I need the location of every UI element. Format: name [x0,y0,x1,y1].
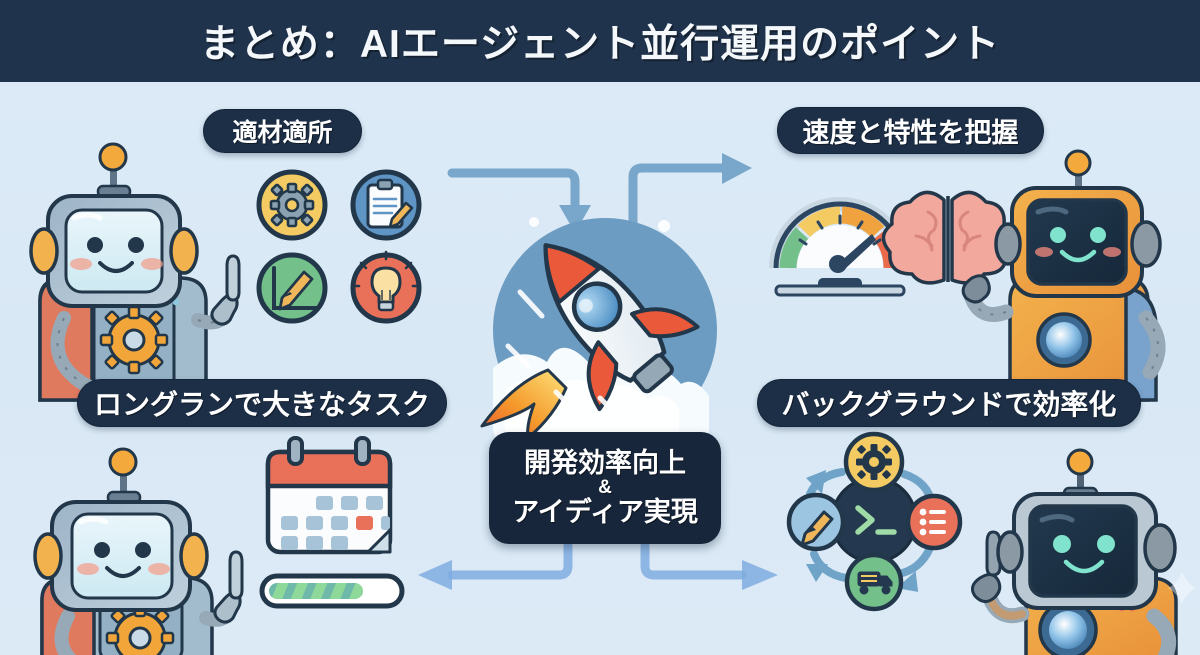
background-cycle-diagram [789,434,960,609]
header-bar: まとめ：AIエージェント並行運用のポイント [0,0,1200,82]
label-bottom-left[interactable]: ロングランで大きなタスク [77,379,447,427]
label-bottom-right-text: バックグラウンドで効率化 [782,383,1117,423]
label-top-left-text: 適材適所 [232,113,332,149]
calendar-icon [268,438,390,552]
arrow-right [645,546,742,575]
robot-bottom-right [972,450,1196,655]
label-top-left[interactable]: 適材適所 [203,109,362,153]
arrow-up-right-head [722,153,752,184]
speedometer-icon [776,204,904,295]
icon-gear-circle [259,172,325,238]
center-line-2: & [598,478,612,499]
robot-bottom-left [35,449,242,655]
progress-bar-icon [262,576,402,606]
robot-top-right [963,151,1160,400]
arrow-down-into-center [452,173,575,207]
arrow-up-right [633,168,726,228]
label-top-right-text: 速度と特性を把握 [803,111,1019,150]
icon-ruler-pencil-circle [259,255,325,321]
center-outcome-box[interactable]: 開発効率向上 & アイディア実現 [489,432,721,544]
label-bottom-left-text: ロングランで大きなタスク [94,383,430,423]
center-line-1: 開発効率向上 [524,449,686,477]
artwork-layer [0,0,1200,655]
page-title: まとめ：AIエージェント並行運用のポイント [200,13,1000,69]
icon-clipboard-pencil-circle [353,172,419,238]
arrow-left-head [418,560,452,590]
arrow-right-head [742,560,778,590]
infographic-canvas: まとめ：AIエージェント並行運用のポイント [0,0,1200,655]
icon-lightbulb-circle [352,252,420,321]
arrow-down-head [559,205,591,233]
label-top-right[interactable]: 速度と特性を把握 [777,107,1044,154]
center-line-3: アイディア実現 [512,498,698,526]
brain-icon [883,192,1012,282]
label-bottom-right[interactable]: バックグラウンドで効率化 [757,379,1141,427]
arrow-left [452,546,568,575]
robot-top-left [31,144,239,400]
